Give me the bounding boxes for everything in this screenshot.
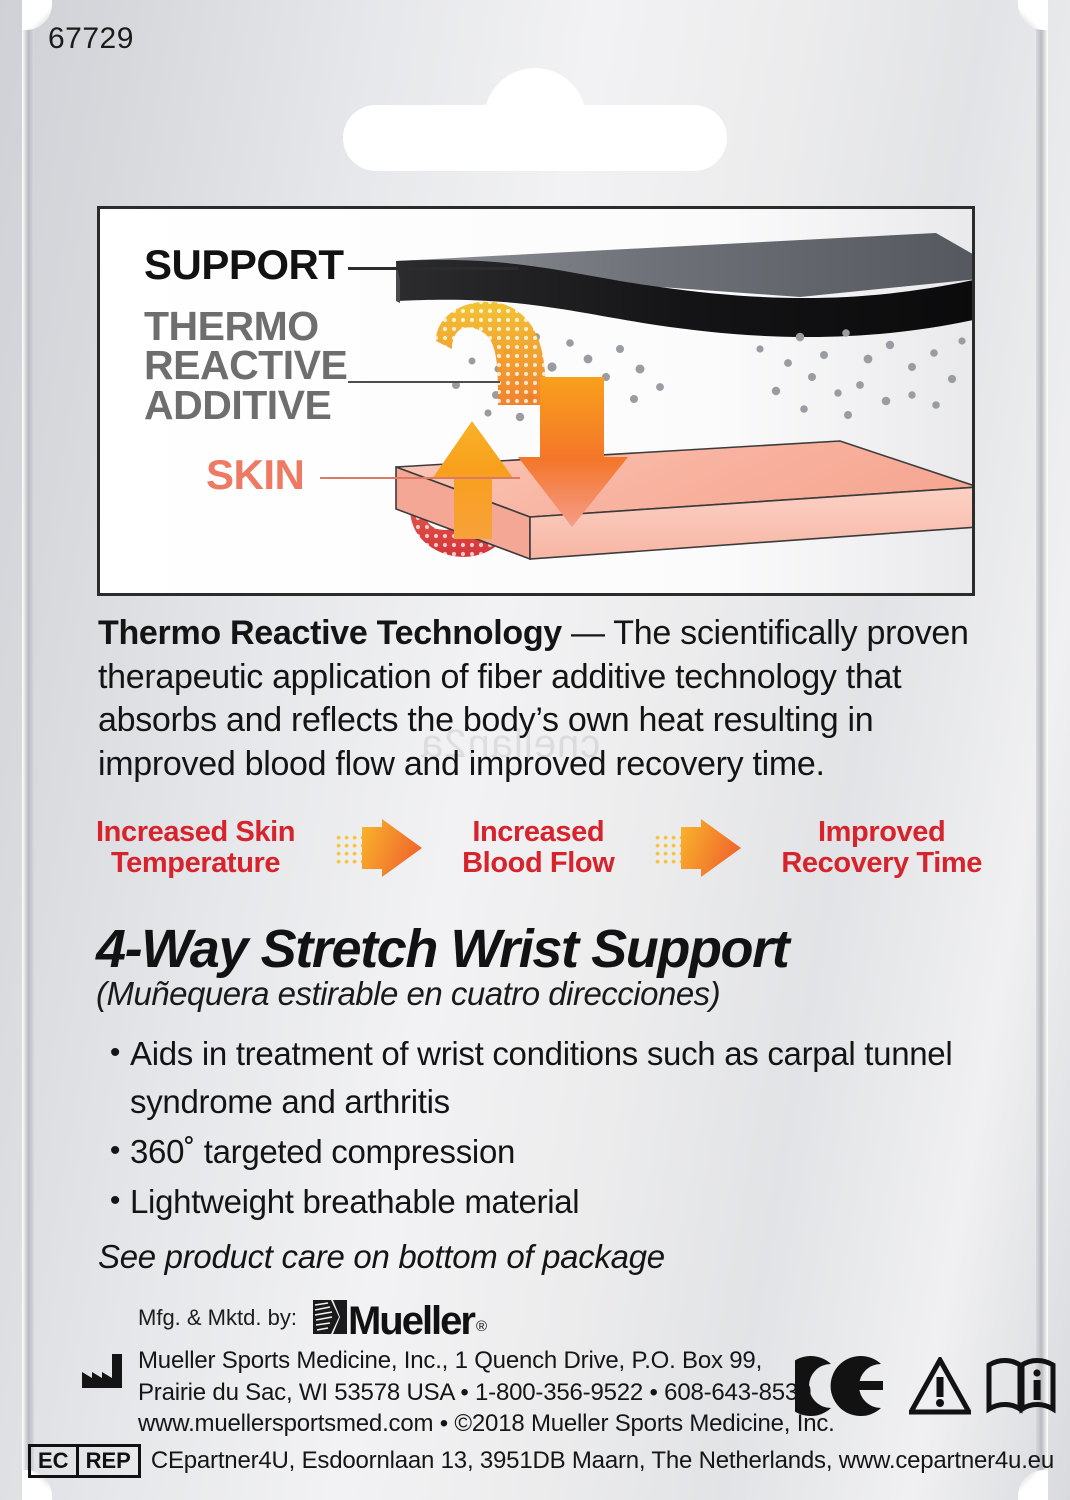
mueller-wordmark: Mueller: [348, 1303, 474, 1339]
product-subtitle-spanish: (Muñequera estirable en cuatro direccion…: [96, 975, 996, 1013]
card-corner-top-right: [1018, 0, 1048, 30]
leader-line-support: [348, 267, 518, 270]
flow-arrow-icon-2: [655, 819, 741, 877]
warning-triangle-icon: [909, 1357, 971, 1415]
thermo-reactive-diagram: SUPPORT THERMO REACTIVE ADDITIVE SKIN: [97, 206, 975, 596]
flow-arrow-icon-1: [336, 819, 422, 877]
list-item: • 360˚ targeted compression: [100, 1128, 980, 1176]
ec-rep-tag-ec: EC: [31, 1447, 79, 1475]
thermo-reactive-technology-paragraph: Thermo Reactive Technology — The scienti…: [98, 612, 986, 787]
flow-step-improved-recovery-time: Improved Recovery Time: [781, 817, 982, 878]
bullet-dot-icon: •: [100, 1030, 130, 1126]
benefit-flow: Increased Skin Temperature Increased Blo…: [96, 808, 982, 888]
list-item: • Lightweight breathable material: [100, 1178, 980, 1226]
technology-heading: Thermo Reactive Technology: [98, 614, 562, 652]
list-item: • Aids in treatment of wrist conditions …: [100, 1030, 980, 1126]
product-package-back: 67729: [0, 0, 1070, 1500]
address-line: Mueller Sports Medicine, Inc., 1 Quench …: [138, 1345, 835, 1377]
card-right-edge: [1036, 0, 1048, 1500]
flow-step-increased-skin-temperature: Increased Skin Temperature: [96, 817, 295, 878]
feature-text: Aids in treatment of wrist conditions su…: [130, 1030, 980, 1126]
diagram-label-thermo-reactive-additive: THERMO REACTIVE ADDITIVE: [144, 307, 347, 425]
ec-rep-badge: EC REP: [28, 1444, 141, 1478]
product-sku: 67729: [48, 22, 134, 56]
manufactured-by-label: Mfg. & Mktd. by:: [138, 1305, 297, 1331]
leader-line-additive: [348, 381, 500, 383]
ce-mark-icon: [795, 1356, 895, 1416]
manufacturer-factory-icon: [78, 1352, 132, 1390]
ec-rep-address: CEpartner4U, Esdoornlaan 13, 3951DB Maar…: [151, 1447, 1054, 1475]
diagram-label-support: SUPPORT: [144, 245, 344, 285]
product-feature-list: • Aids in treatment of wrist conditions …: [100, 1030, 980, 1227]
bullet-dot-icon: •: [100, 1128, 130, 1176]
ec-rep-row: EC REP CEpartner4U, Esdoornlaan 13, 3951…: [28, 1444, 1054, 1478]
card-left-edge: [22, 0, 34, 1500]
manufacturer-row: Mfg. & Mktd. by: Mueller ®: [138, 1296, 487, 1339]
leader-line-skin: [320, 477, 520, 479]
registered-trademark-icon: ®: [476, 1318, 487, 1335]
address-line: Prairie du Sac, WI 53578 USA • 1-800-356…: [138, 1377, 835, 1409]
ec-rep-tag-rep: REP: [79, 1447, 138, 1475]
consult-instructions-icon: [985, 1357, 1057, 1415]
flow-step-increased-blood-flow: Increased Blood Flow: [462, 817, 614, 878]
feature-text: 360˚ targeted compression: [130, 1128, 980, 1176]
product-care-note: See product care on bottom of package: [98, 1238, 978, 1276]
product-title: 4-Way Stretch Wrist Support: [96, 918, 996, 980]
mueller-wrap-mark-icon: [309, 1296, 351, 1338]
mueller-logo: Mueller ®: [309, 1296, 487, 1339]
hang-hole-circle: [484, 68, 586, 170]
diagram-label-skin: SKIN: [206, 455, 304, 495]
manufacturer-address: Mueller Sports Medicine, Inc., 1 Quench …: [138, 1345, 835, 1440]
bullet-dot-icon: •: [100, 1178, 130, 1226]
feature-text: Lightweight breathable material: [130, 1178, 980, 1226]
address-line: www.muellersportsmed.com • ©2018 Mueller…: [138, 1408, 835, 1440]
regulatory-symbols: [795, 1356, 1057, 1416]
technology-dash: —: [562, 614, 613, 652]
